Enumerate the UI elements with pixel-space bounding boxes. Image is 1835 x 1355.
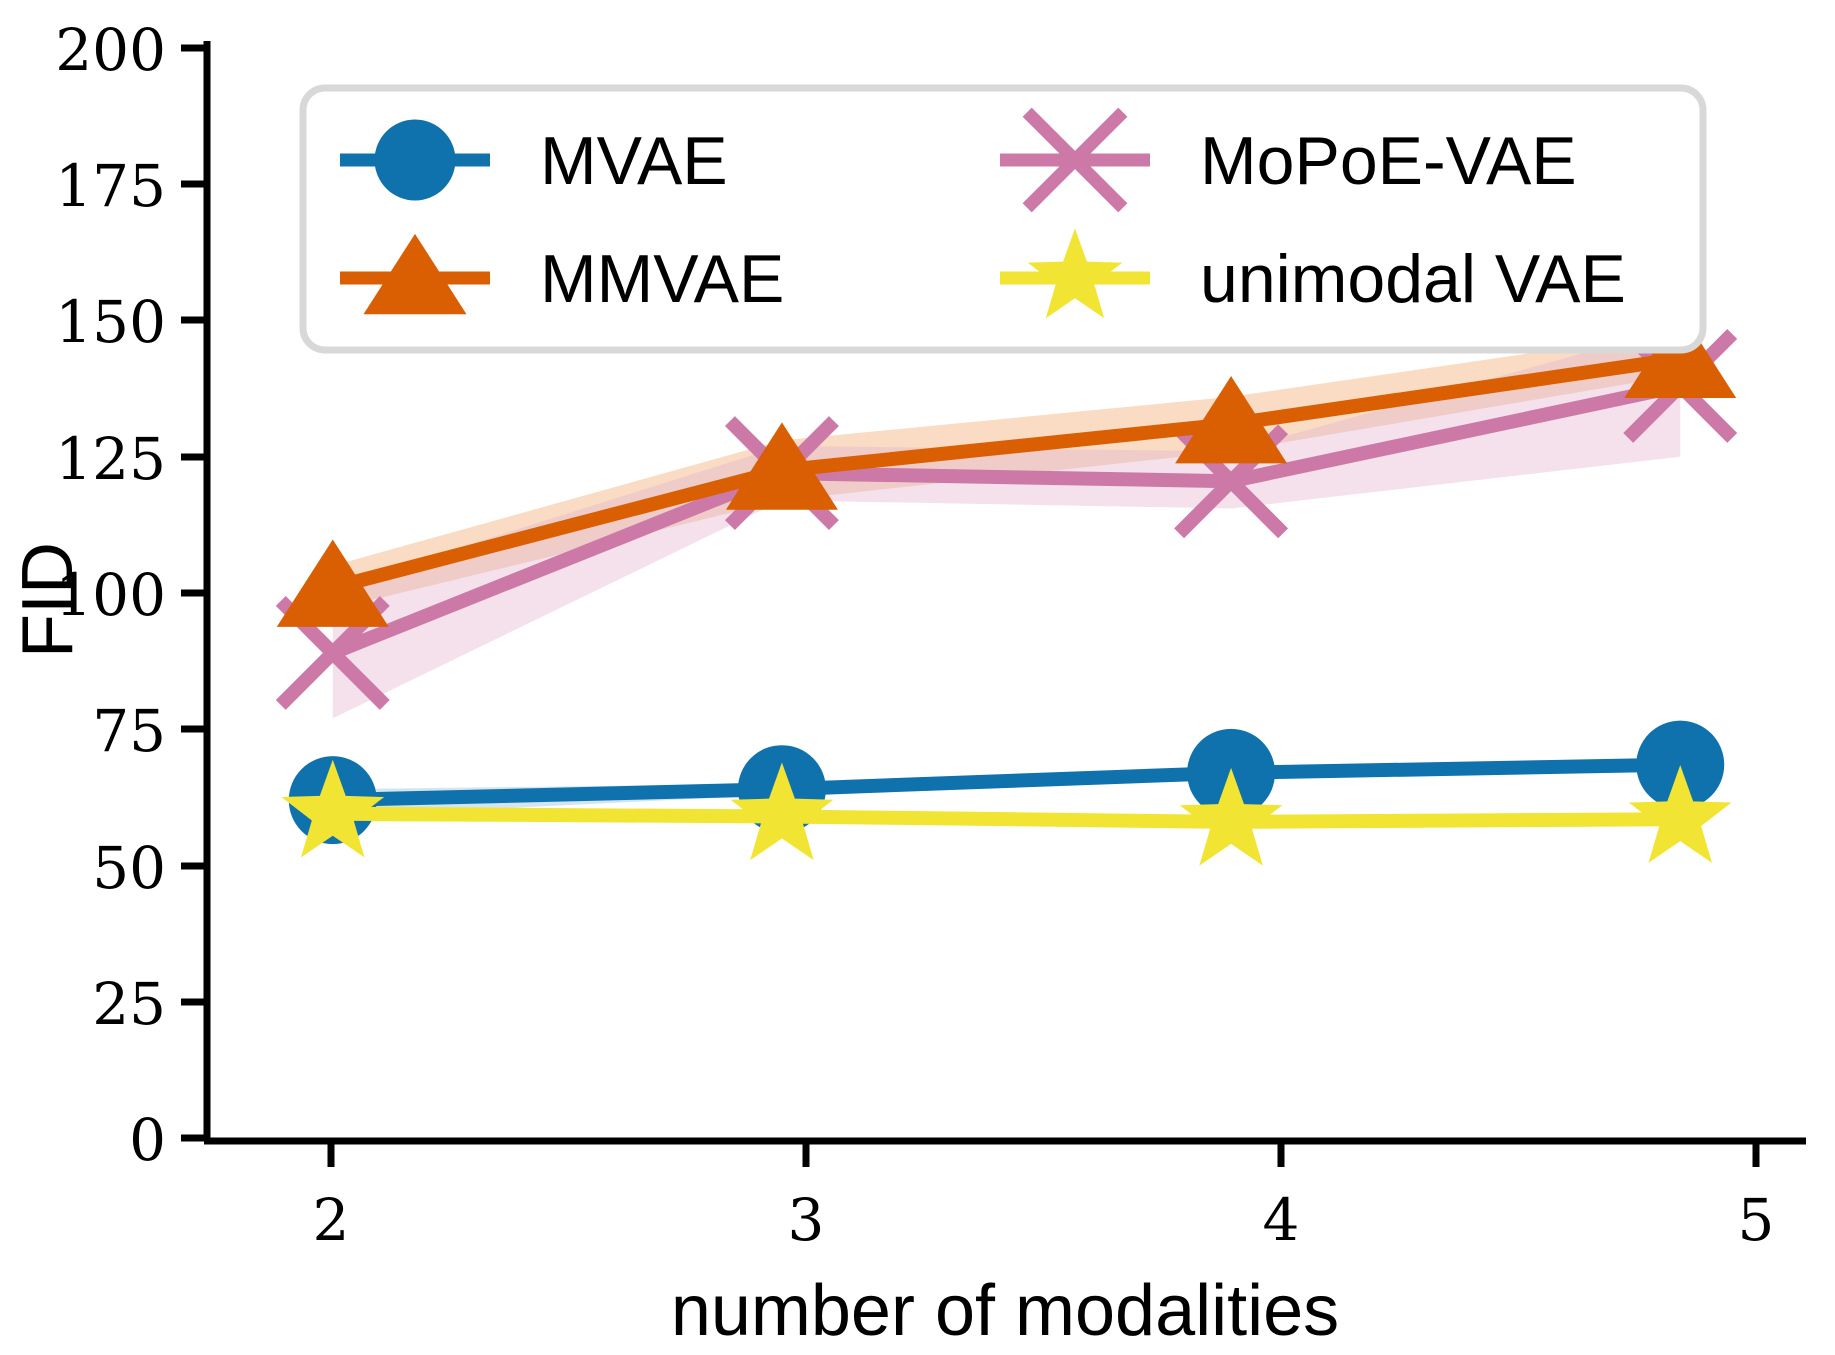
x-tick-labels: 2 3 4 5 <box>313 1186 1775 1254</box>
y-tick-label-125: 125 <box>55 425 166 493</box>
y-tick-label-150: 150 <box>55 288 166 356</box>
chart-figure: 200 175 150 125 100 75 50 25 0 2 3 4 5 n… <box>0 0 1835 1355</box>
legend-label-mopoe-vae: MoPoE-VAE <box>1200 123 1577 199</box>
y-tick-label-175: 175 <box>55 152 166 220</box>
y-tick-label-25: 25 <box>92 970 166 1038</box>
line-chart-svg: 200 175 150 125 100 75 50 25 0 2 3 4 5 n… <box>0 0 1835 1355</box>
legend-label-unimodal-vae: unimodal VAE <box>1200 241 1626 317</box>
y-axis-title: FID <box>8 542 88 658</box>
x-tick-label-5: 5 <box>1738 1186 1775 1254</box>
y-tick-label-200: 200 <box>55 16 166 84</box>
legend[interactable]: MVAE MMVAE MoPoE-VAE unimodal VAE <box>303 88 1703 350</box>
legend-label-mvae: MVAE <box>540 123 728 199</box>
x-tick-label-3: 3 <box>788 1186 825 1254</box>
y-tick-label-75: 75 <box>92 697 166 765</box>
y-tick-label-0: 0 <box>129 1106 166 1174</box>
legend-marker-circle-icon <box>375 120 456 201</box>
x-tick-label-2: 2 <box>313 1186 350 1254</box>
y-tick-marks <box>181 48 207 1138</box>
x-tick-label-4: 4 <box>1263 1186 1300 1254</box>
y-tick-label-50: 50 <box>92 834 166 902</box>
x-axis-title: number of modalities <box>671 1271 1339 1351</box>
legend-label-mmvae: MMVAE <box>540 241 784 317</box>
x-tick-marks <box>331 1141 1756 1167</box>
